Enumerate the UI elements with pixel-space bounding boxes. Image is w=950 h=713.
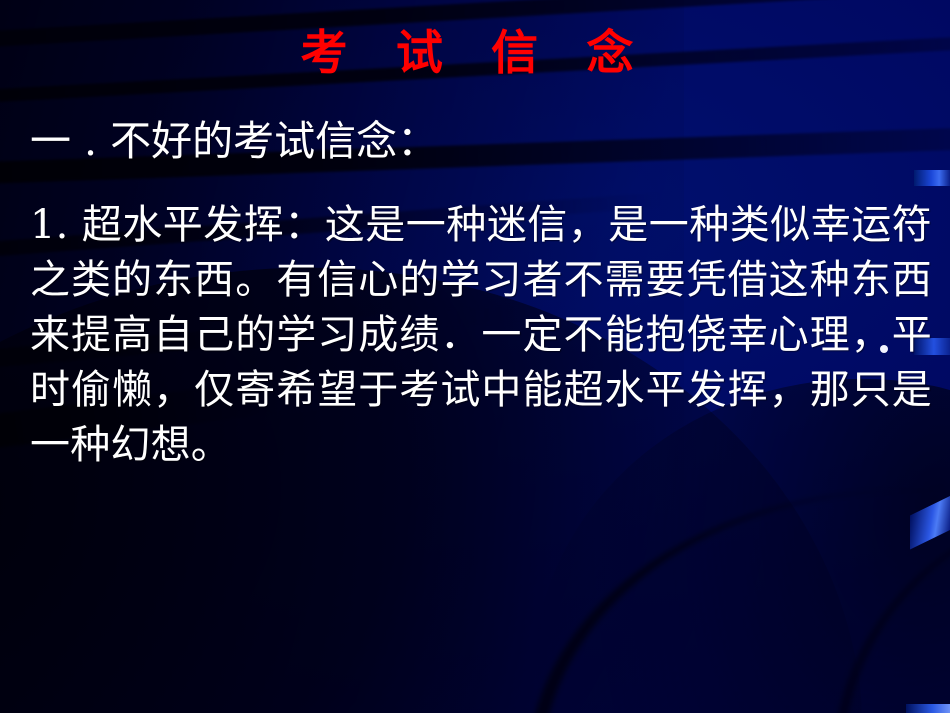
section-heading: 一 . 不好的考试信念： xyxy=(30,116,438,166)
slide-content: 考 试 信 念 一 . 不好的考试信念： 1. 超水平发挥：这是一种迷信，是一种… xyxy=(0,0,950,713)
presentation-slide: 考 试 信 念 一 . 不好的考试信念： 1. 超水平发挥：这是一种迷信，是一种… xyxy=(0,0,950,713)
slide-title: 考 试 信 念 xyxy=(265,26,685,82)
body-paragraph: 1. 超水平发挥：这是一种迷信，是一种类似幸运符之类的东西。有信心的学习者不需要… xyxy=(30,198,932,473)
